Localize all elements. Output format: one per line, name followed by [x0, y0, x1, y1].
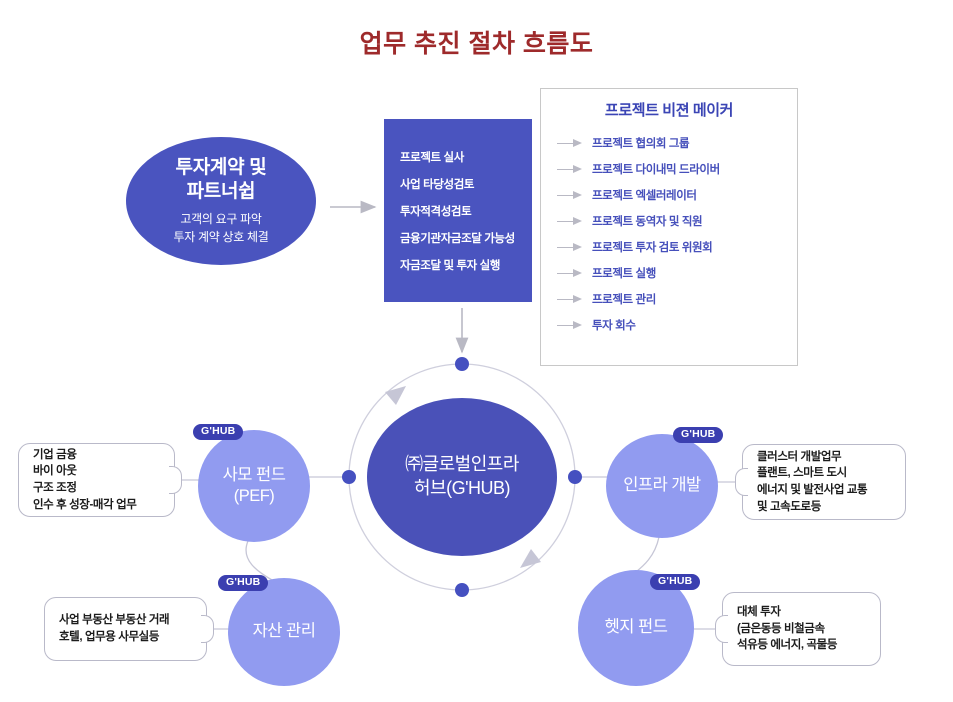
vision-item-4-label: 프로젝트 투자 검토 위원회	[592, 239, 712, 255]
badge-ghub-infra: G'HUB	[673, 427, 723, 443]
process-item-2: 투자적격성검토	[384, 203, 532, 219]
vision-item-7-label: 투자 회수	[592, 317, 636, 333]
node-asset-management[interactable]: 자산 관리	[228, 578, 340, 686]
orbit-arrowhead-lower-right	[520, 549, 541, 568]
callout-hedge-text: 대체 투자 (금은동등 비철금속 석유등 에너지, 곡물등	[737, 604, 837, 654]
callout-infra: 클러스터 개발업무 플랜트, 스마트 도시 에너지 및 발전사업 교통 및 고속…	[742, 444, 906, 520]
vision-item-3-label: 프로젝트 동역자 및 직원	[592, 213, 702, 229]
contract-subtitle: 고객의 요구 파악 투자 계약 상호 체결	[173, 211, 268, 246]
process-item-3: 금융기관자금조달 가능성	[384, 230, 532, 246]
callout-tab-icon	[201, 615, 214, 643]
callout-pef-text: 기업 금융 바이 아웃 구조 조정 인수 후 성장-매각 업무	[33, 447, 136, 514]
process-step-box: 프로젝트 실사 사업 타당성검토 투자적격성검토 금융기관자금조달 가능성 자금…	[384, 119, 532, 302]
node-ghub-center[interactable]: ㈜글로벌인프라 허브(G'HUB)	[367, 398, 557, 556]
badge-ghub-pef: G'HUB	[193, 424, 243, 440]
hedge-label: 헷지 펀드	[605, 617, 668, 638]
contract-title-line2: 파트너쉽	[176, 180, 267, 204]
arrow-right-icon	[557, 321, 583, 330]
vision-item-5-label: 프로젝트 실행	[592, 265, 656, 281]
infra-label: 인프라 개발	[623, 475, 700, 496]
callout-tab-icon	[715, 615, 728, 643]
vision-item-5[interactable]: 프로젝트 실행	[541, 260, 797, 286]
page-title: 업무 추진 절차 흐름도	[0, 24, 953, 60]
callout-asset-text: 사업 부동산 부동산 거래 호텔, 업무용 사무실등	[59, 612, 169, 645]
pef-label-line1: 사모 펀드	[223, 465, 286, 486]
callout-tab-icon	[169, 466, 182, 494]
contract-sub-line1: 고객의 요구 파악	[173, 211, 268, 228]
asset-label: 자산 관리	[253, 621, 316, 642]
vision-item-4[interactable]: 프로젝트 투자 검토 위원회	[541, 234, 797, 260]
badge-ghub-asset: G'HUB	[218, 575, 268, 591]
process-item-4: 자금조달 및 투자 실행	[384, 257, 532, 273]
contract-title-line1: 투자계약 및	[176, 156, 267, 180]
project-vision-maker-panel: 프로젝트 비젼 메이커 프로젝트 협의회 그룹 프로젝트 다이내믹 드라이버 프…	[540, 88, 798, 366]
orbit-dot-left	[342, 470, 356, 484]
arrow-right-icon	[557, 139, 583, 148]
orbit-dot-right	[568, 470, 582, 484]
diagram-canvas: 업무 추진 절차 흐름도 투자계약 및 파트너쉽 고객의 요구 파악 투자 계약…	[0, 0, 953, 702]
arrow-right-icon	[557, 191, 583, 200]
vision-item-1-label: 프로젝트 다이내믹 드라이버	[592, 161, 720, 177]
badge-ghub-hedge: G'HUB	[650, 574, 700, 590]
callout-pef: 기업 금융 바이 아웃 구조 조정 인수 후 성장-매각 업무	[18, 443, 175, 517]
contract-title: 투자계약 및 파트너쉽	[176, 156, 267, 205]
pef-label: 사모 펀드 (PEF)	[223, 465, 286, 508]
orbit-dot-bottom	[455, 583, 469, 597]
arrow-right-icon	[557, 243, 583, 252]
hub-label-line2: 허브(G'HUB)	[405, 477, 519, 501]
vision-item-0-label: 프로젝트 협의회 그룹	[592, 135, 689, 151]
vision-item-1[interactable]: 프로젝트 다이내믹 드라이버	[541, 156, 797, 182]
callout-tab-icon	[735, 468, 748, 496]
arrow-right-icon	[557, 217, 583, 226]
hub-label-line1: ㈜글로벌인프라	[405, 453, 519, 477]
orbit-arrowhead-upper-left	[385, 386, 406, 405]
contract-sub-line2: 투자 계약 상호 체결	[173, 229, 268, 246]
callout-hedge: 대체 투자 (금은동등 비철금속 석유등 에너지, 곡물등	[722, 592, 881, 666]
node-private-equity-fund[interactable]: 사모 펀드 (PEF)	[198, 430, 310, 542]
arrow-right-icon	[557, 165, 583, 174]
arrow-right-icon	[557, 269, 583, 278]
process-item-1: 사업 타당성검토	[384, 176, 532, 192]
vision-item-2-label: 프로젝트 엑셀러레이터	[592, 187, 697, 203]
pef-label-line2: (PEF)	[223, 486, 286, 507]
vision-item-6[interactable]: 프로젝트 관리	[541, 286, 797, 312]
vision-item-6-label: 프로젝트 관리	[592, 291, 656, 307]
vision-item-2[interactable]: 프로젝트 엑셀러레이터	[541, 182, 797, 208]
vision-item-0[interactable]: 프로젝트 협의회 그룹	[541, 130, 797, 156]
orbit-dot-top	[455, 357, 469, 371]
node-infrastructure-development[interactable]: 인프라 개발	[606, 434, 718, 538]
callout-asset: 사업 부동산 부동산 거래 호텔, 업무용 사무실등	[44, 597, 207, 661]
node-investment-contract[interactable]: 투자계약 및 파트너쉽 고객의 요구 파악 투자 계약 상호 체결	[126, 137, 316, 265]
vision-item-3[interactable]: 프로젝트 동역자 및 직원	[541, 208, 797, 234]
process-item-0: 프로젝트 실사	[384, 149, 532, 165]
hub-label: ㈜글로벌인프라 허브(G'HUB)	[405, 453, 519, 501]
arrow-right-icon	[557, 295, 583, 304]
vision-panel-title: 프로젝트 비젼 메이커	[541, 99, 797, 120]
vision-item-7[interactable]: 투자 회수	[541, 312, 797, 338]
callout-infra-text: 클러스터 개발업무 플랜트, 스마트 도시 에너지 및 발전사업 교통 및 고속…	[757, 449, 867, 516]
